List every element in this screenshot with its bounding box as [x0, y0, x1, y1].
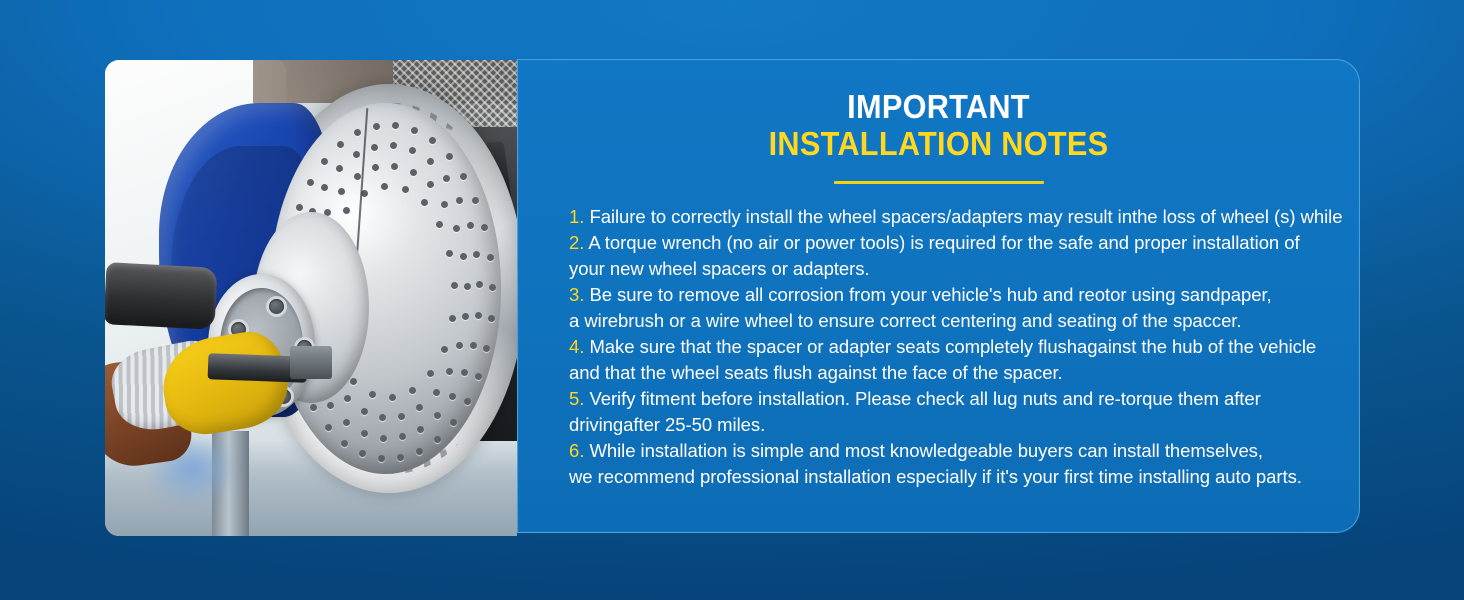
rotor-hole: [481, 224, 488, 231]
note-line: 5. Verify fitment before installation. P…: [569, 386, 1345, 412]
note-line: 1. Failure to correctly install the whee…: [569, 204, 1345, 230]
rotor-hole: [354, 129, 361, 136]
note-line: 6. While installation is simple and most…: [569, 438, 1345, 464]
rotor-hole: [433, 389, 440, 396]
rotor-hole: [310, 404, 317, 411]
note-text: and that the wheel seats flush against t…: [569, 362, 1063, 383]
rotor-hole: [343, 419, 350, 426]
note-number: 2.: [569, 232, 584, 253]
rotor-hole: [416, 448, 423, 455]
rotor-hole: [337, 141, 344, 148]
note-line: we recommend professional installation e…: [569, 464, 1345, 490]
rotor-hole: [441, 201, 448, 208]
installation-notes-list: 1. Failure to correctly install the whee…: [518, 204, 1359, 490]
rotor-hole: [434, 412, 441, 419]
note-text: Make sure that the spacer or adapter sea…: [589, 336, 1316, 357]
rotor-hole: [460, 253, 467, 260]
note-number: 4.: [569, 336, 584, 357]
rotor-hole: [380, 435, 387, 442]
title-divider: [834, 181, 1044, 184]
note-text: we recommend professional installation e…: [569, 466, 1302, 487]
rotor-hole: [489, 284, 496, 291]
note-text: A torque wrench (no air or power tools) …: [588, 232, 1299, 253]
rotor-hole: [378, 455, 385, 462]
rotor-hole: [441, 346, 448, 353]
rotor-hole: [361, 430, 368, 437]
rotor-hole: [483, 345, 490, 352]
panel-title-line-1: IMPORTANT: [547, 88, 1329, 125]
rotor-hole: [461, 369, 468, 376]
rotor-hole: [350, 378, 357, 385]
product-photo: [105, 60, 517, 536]
note-line: a wirebrush or a wire wheel to ensure co…: [569, 308, 1345, 334]
rotor-hole: [427, 370, 434, 377]
note-text: your new wheel spacers or adapters.: [569, 258, 870, 279]
rotor-hole: [456, 342, 463, 349]
rotor-hole: [429, 137, 436, 144]
rotor-hole: [449, 393, 456, 400]
note-line: your new wheel spacers or adapters.: [569, 256, 1345, 282]
note-text: Verify fitment before installation. Plea…: [589, 388, 1260, 409]
rotor-hole: [338, 188, 345, 195]
rotor-hole: [416, 404, 423, 411]
note-text: Be sure to remove all corrosion from you…: [589, 284, 1271, 305]
rotor-hole: [476, 281, 483, 288]
rotor-hole: [456, 197, 463, 204]
rotor-hole: [472, 197, 479, 204]
rotor-hole: [369, 391, 376, 398]
rotor-hole: [475, 312, 482, 319]
impact-wrench-socket: [290, 346, 331, 379]
rotor-hole: [389, 394, 396, 401]
rotor-hole: [372, 164, 379, 171]
rotor-hole: [473, 251, 480, 258]
rotor-hole: [409, 147, 416, 154]
installation-notes-panel: IMPORTANT INSTALLATION NOTES 1. Failure …: [517, 59, 1360, 533]
panel-title-line-2: INSTALLATION NOTES: [547, 125, 1329, 162]
impact-wrench-body: [105, 262, 218, 330]
rotor-hole: [390, 142, 397, 149]
note-line: and that the wheel seats flush against t…: [569, 360, 1345, 386]
rotor-hole: [397, 454, 404, 461]
note-line: 3. Be sure to remove all corrosion from …: [569, 282, 1345, 308]
rotor-hole: [399, 433, 406, 440]
note-number: 6.: [569, 440, 584, 461]
rotor-hole: [371, 144, 378, 151]
note-text: Failure to correctly install the wheel s…: [589, 206, 1342, 227]
rotor-hole: [398, 413, 405, 420]
note-line: drivingafter 25-50 miles.: [569, 412, 1345, 438]
rotor-hole: [391, 163, 398, 170]
rotor-hole: [409, 387, 416, 394]
rotor-hole: [321, 184, 328, 191]
rotor-hole: [467, 222, 474, 229]
rotor-hole: [427, 181, 434, 188]
rotor-hole: [379, 414, 386, 421]
rotor-hole: [464, 283, 471, 290]
note-text: drivingafter 25-50 miles.: [569, 414, 765, 435]
panel-title-block: IMPORTANT INSTALLATION NOTES: [518, 60, 1359, 184]
rotor-hole: [417, 426, 424, 433]
rotor-hole: [307, 179, 314, 186]
rotor-hole: [354, 173, 361, 180]
rotor-hole: [451, 282, 458, 289]
rotor-hole: [460, 173, 467, 180]
rotor-hole: [464, 398, 471, 405]
rotor-hole: [359, 450, 366, 457]
rotor-hole: [327, 402, 334, 409]
rotor-hole: [450, 419, 457, 426]
note-number: 3.: [569, 284, 584, 305]
rotor-hole: [453, 225, 460, 232]
note-number: 1.: [569, 206, 584, 227]
rotor-hole: [343, 207, 350, 214]
rotor-hole: [411, 127, 418, 134]
rotor-hole: [427, 158, 434, 165]
rotor-hole: [488, 315, 495, 322]
rotor-hole: [443, 175, 450, 182]
rotor-hole: [410, 169, 417, 176]
rotor-hole: [475, 373, 482, 380]
note-line: 2. A torque wrench (no air or power tool…: [569, 230, 1345, 256]
rotor-hole: [296, 204, 303, 211]
rotor-hole: [341, 440, 348, 447]
rotor-hole: [487, 254, 494, 261]
rotor-hole: [470, 342, 477, 349]
rotor-hole: [446, 153, 453, 160]
rotor-hole: [353, 151, 360, 158]
promo-banner: IMPORTANT INSTALLATION NOTES 1. Failure …: [0, 0, 1464, 600]
note-line: 4. Make sure that the spacer or adapter …: [569, 334, 1345, 360]
rotor-hole: [402, 186, 409, 193]
rotor-hole: [321, 158, 328, 165]
note-text: While installation is simple and most kn…: [589, 440, 1263, 461]
rotor-hole: [449, 315, 456, 322]
rotor-hole: [434, 436, 441, 443]
rotor-hole: [361, 408, 368, 415]
rotor-hole: [344, 395, 351, 402]
rotor-hole: [336, 165, 343, 172]
rotor-hole: [392, 122, 399, 129]
note-number: 5.: [569, 388, 584, 409]
rotor-hole: [381, 183, 388, 190]
note-text: a wirebrush or a wire wheel to ensure co…: [569, 310, 1242, 331]
rotor-hole: [373, 123, 380, 130]
rotor-hole: [462, 313, 469, 320]
rotor-hole: [446, 368, 453, 375]
rotor-hole: [421, 199, 428, 206]
rotor-hole: [446, 250, 453, 257]
rotor-hole: [325, 424, 332, 431]
rotor-hole: [436, 221, 443, 228]
